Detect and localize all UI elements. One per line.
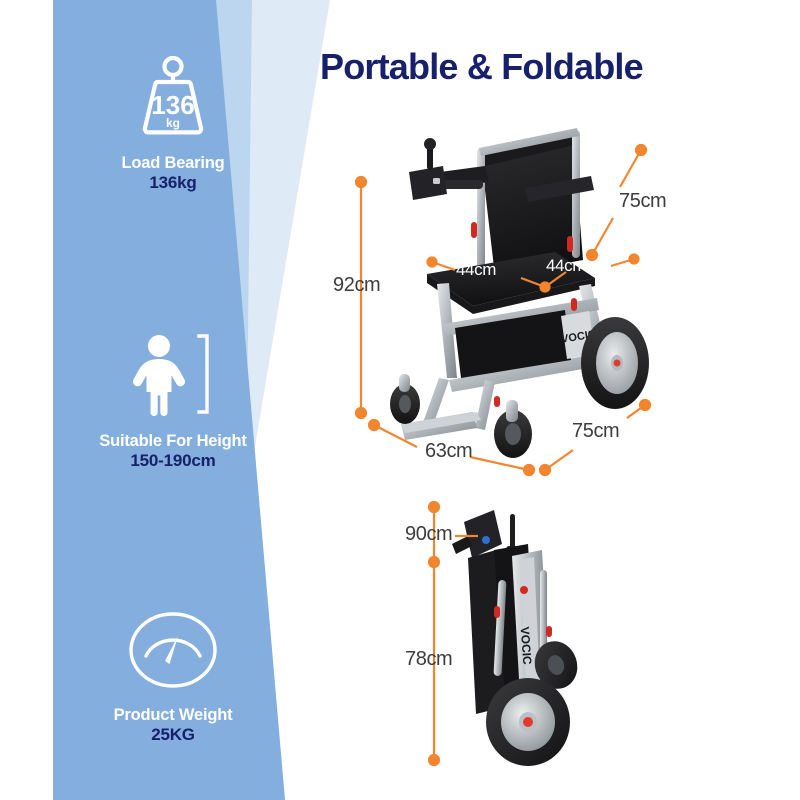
infographic-canvas: Portable & Foldable 136 kg Load Bearing … bbox=[0, 0, 800, 800]
page-title: Portable & Foldable bbox=[320, 46, 643, 88]
feature-rail: 136 kg Load Bearing 136kg Suitable For H… bbox=[53, 0, 293, 800]
feature-value: 25KG bbox=[53, 725, 293, 746]
feature-load-bearing: 136 kg Load Bearing 136kg bbox=[53, 52, 293, 194]
speedometer-icon bbox=[53, 604, 293, 690]
feature-title: Product Weight bbox=[53, 705, 293, 725]
feature-title: Load Bearing bbox=[53, 153, 293, 173]
feature-value: 136kg bbox=[53, 173, 293, 194]
brand-label: VOCIC bbox=[518, 626, 535, 665]
feature-suitable-height: Suitable For Height 150-190cm bbox=[53, 330, 293, 472]
feature-product-weight: Product Weight 25KG bbox=[53, 604, 293, 746]
feature-title: Suitable For Height bbox=[53, 431, 293, 451]
height-bracket-icon bbox=[199, 336, 207, 412]
product-image-unfolded: VOCIC bbox=[365, 128, 665, 468]
weight-icon-unit: kg bbox=[166, 116, 180, 130]
weight-icon: 136 kg bbox=[53, 52, 293, 138]
person-height-icon bbox=[53, 330, 293, 416]
feature-value: 150-190cm bbox=[53, 451, 293, 472]
product-image-folded: VOCIC bbox=[450, 500, 595, 768]
